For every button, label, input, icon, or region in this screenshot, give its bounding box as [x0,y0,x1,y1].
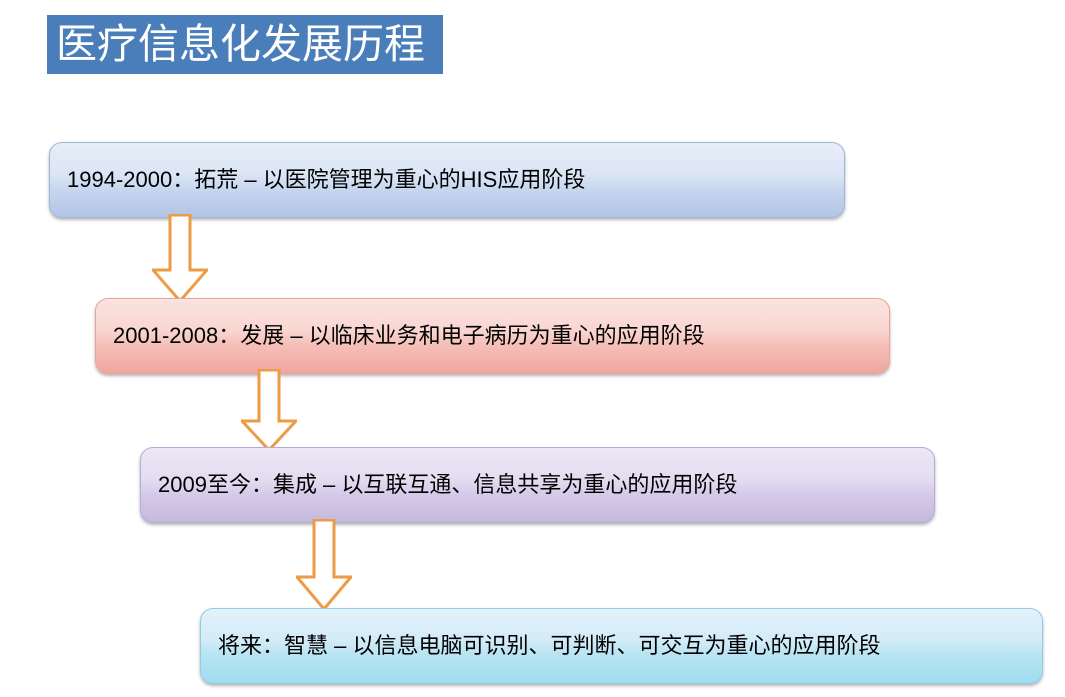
stage-box-2-label: 2001-2008：发展 – 以临床业务和电子病历为重心的应用阶段 [96,322,705,350]
down-arrow-icon-2 [241,369,297,453]
slide-canvas: 医疗信息化发展历程 1994-2000：拓荒 – 以医院管理为重心的HIS应用阶… [0,0,1065,697]
stage-box-4-label: 将来：智慧 – 以信息电脑可识别、可判断、可交互为重心的应用阶段 [201,632,880,660]
stage-box-1-label: 1994-2000：拓荒 – 以医院管理为重心的HIS应用阶段 [50,166,585,194]
page-title: 医疗信息化发展历程 [56,22,425,67]
stage-box-1[interactable]: 1994-2000：拓荒 – 以医院管理为重心的HIS应用阶段 [49,142,845,218]
stage-box-3-label: 2009至今：集成 – 以互联互通、信息共享为重心的应用阶段 [141,471,737,499]
down-arrow-icon-3 [296,519,352,612]
stage-box-4[interactable]: 将来：智慧 – 以信息电脑可识别、可判断、可交互为重心的应用阶段 [200,608,1043,684]
down-arrow-icon-1 [152,214,208,304]
stage-box-2[interactable]: 2001-2008：发展 – 以临床业务和电子病历为重心的应用阶段 [95,298,890,374]
page-title-banner: 医疗信息化发展历程 [47,15,443,74]
stage-box-3[interactable]: 2009至今：集成 – 以互联互通、信息共享为重心的应用阶段 [140,447,935,523]
